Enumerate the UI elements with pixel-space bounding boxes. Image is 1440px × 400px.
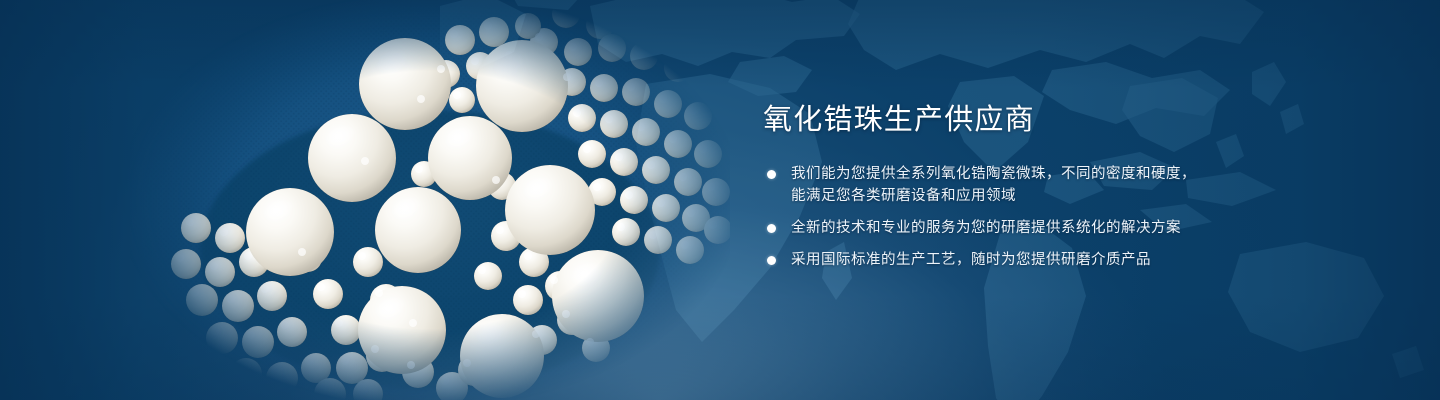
list-item: 采用国际标准的生产工艺，随时为您提供研磨介质产品: [763, 249, 1363, 271]
page-title: 氧化锆珠生产供应商: [763, 104, 1363, 137]
bullet-dot-icon: [767, 224, 776, 233]
feature-list: 我们能为您提供全系列氧化锆陶瓷微珠，不同的密度和硬度， 能满足您各类研磨设备和应…: [763, 163, 1363, 271]
list-item-line: 采用国际标准的生产工艺，随时为您提供研磨介质产品: [791, 249, 1363, 271]
zirconia-beads-photo: [130, 0, 730, 400]
list-item-line: 全新的技术和专业的服务为您的研磨提供系统化的解决方案: [791, 217, 1363, 239]
banner-copy: 氧化锆珠生产供应商 我们能为您提供全系列氧化锆陶瓷微珠，不同的密度和硬度， 能满…: [763, 104, 1363, 271]
hero-banner: 氧化锆珠生产供应商 我们能为您提供全系列氧化锆陶瓷微珠，不同的密度和硬度， 能满…: [0, 0, 1440, 400]
bullet-dot-icon: [767, 256, 776, 265]
list-item-line: 我们能为您提供全系列氧化锆陶瓷微珠，不同的密度和硬度，: [791, 163, 1363, 185]
list-item-line: 能满足您各类研磨设备和应用领域: [791, 185, 1363, 207]
list-item: 全新的技术和专业的服务为您的研磨提供系统化的解决方案: [763, 217, 1363, 239]
bullet-dot-icon: [767, 170, 776, 179]
list-item: 我们能为您提供全系列氧化锆陶瓷微珠，不同的密度和硬度， 能满足您各类研磨设备和应…: [763, 163, 1363, 207]
